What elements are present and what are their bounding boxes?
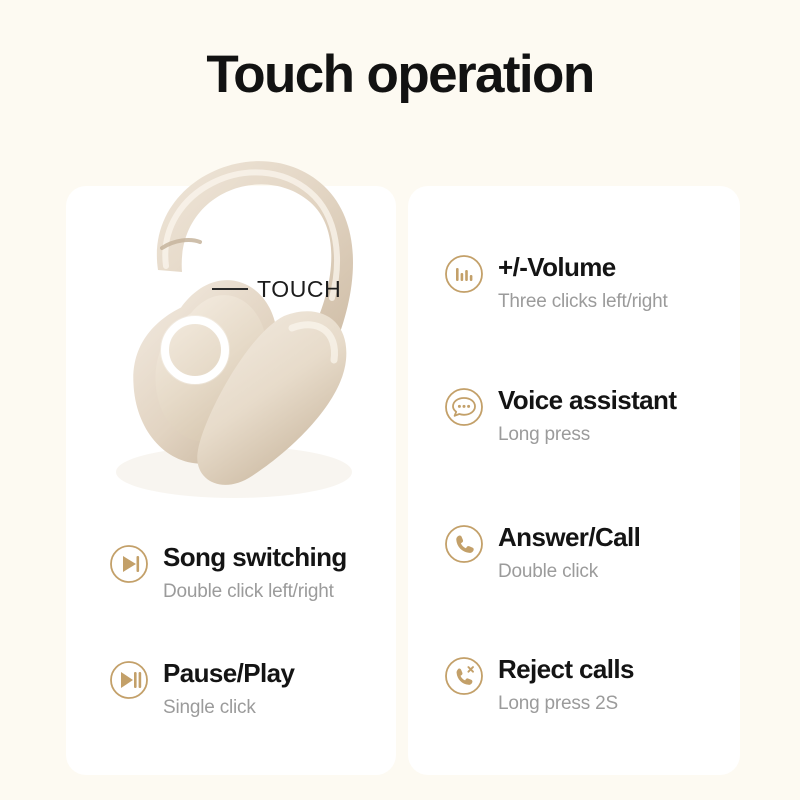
feature-text-block: Answer/Call Double click: [498, 521, 640, 584]
feature-text-block: Reject calls Long press 2S: [498, 653, 634, 716]
feature-title: Voice assistant: [498, 385, 676, 415]
infographic-page: Touch operation: [0, 0, 800, 800]
feature-title: +/-Volume: [498, 252, 616, 282]
phone-reject-icon: [444, 656, 484, 696]
feature-song-switching[interactable]: Song switching Double click left/right: [109, 541, 347, 604]
feature-text-block: Voice assistant Long press: [498, 384, 676, 447]
feature-reject-calls[interactable]: Reject calls Long press 2S: [444, 653, 634, 716]
feature-title: Reject calls: [498, 654, 634, 684]
feature-subtitle: Double click: [498, 560, 640, 584]
page-title: Touch operation: [0, 44, 800, 106]
speech-bubble-icon: [444, 387, 484, 427]
feature-title: Answer/Call: [498, 522, 640, 552]
feature-subtitle: Three clicks left/right: [498, 290, 668, 314]
volume-bars-icon: [444, 254, 484, 294]
feature-text-block: +/-Volume Three clicks left/right: [498, 251, 668, 314]
feature-text-block: Song switching Double click left/right: [163, 541, 347, 604]
feature-subtitle: Long press: [498, 423, 676, 447]
feature-answer-call[interactable]: Answer/Call Double click: [444, 521, 640, 584]
feature-title: Pause/Play: [163, 658, 294, 688]
feature-title: Song switching: [163, 542, 347, 572]
phone-icon: [444, 524, 484, 564]
feature-subtitle: Long press 2S: [498, 692, 634, 716]
feature-subtitle: Double click left/right: [163, 580, 347, 604]
next-track-icon: [109, 544, 149, 584]
play-pause-icon: [109, 660, 149, 700]
feature-text-block: Pause/Play Single click: [163, 657, 294, 720]
feature-volume[interactable]: +/-Volume Three clicks left/right: [444, 251, 668, 314]
callout-label: TOUCH: [257, 276, 341, 302]
touch-callout: TOUCH: [212, 276, 341, 302]
feature-pause-play[interactable]: Pause/Play Single click: [109, 657, 294, 720]
feature-voice-assistant[interactable]: Voice assistant Long press: [444, 384, 676, 447]
feature-subtitle: Single click: [163, 696, 294, 720]
callout-leader-line: [212, 288, 248, 290]
